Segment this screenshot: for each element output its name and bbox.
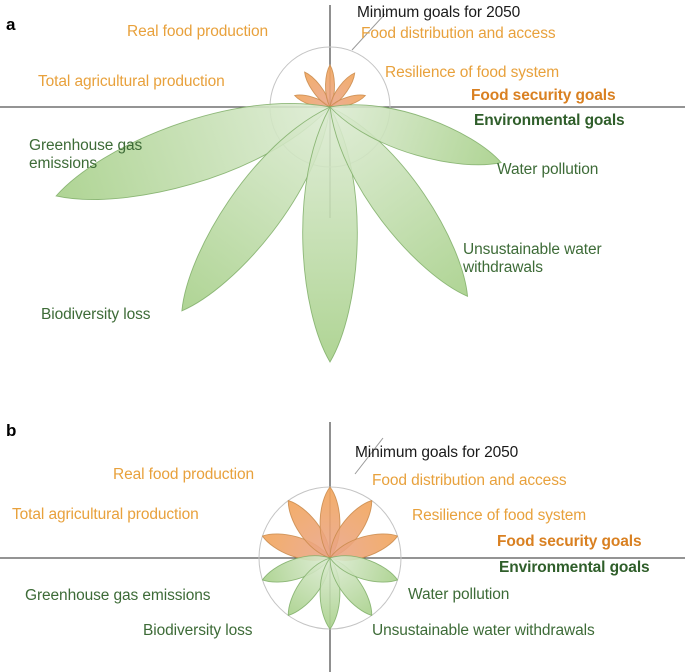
label-real-food-production-b: Real food production [113, 466, 254, 484]
label-biodiversity-loss-a: Biodiversity loss [41, 306, 150, 324]
label-unsustainable-water-withdrawals-b: Unsustainable water withdrawals [372, 622, 595, 640]
label-greenhouse-gas-emissions-b: Greenhouse gas emissions [25, 587, 210, 605]
legend-environmental-goals-b: Environmental goals [499, 559, 650, 577]
annotation-minimum-goals-b: Minimum goals for 2050 [355, 444, 518, 462]
label-unsustainable-water-withdrawals-a: Unsustainable water withdrawals [463, 241, 648, 277]
legend-food-security-goals-b: Food security goals [497, 533, 642, 551]
label-water-pollution-a: Water pollution [497, 161, 598, 179]
legend-food-security-goals-a: Food security goals [471, 87, 616, 105]
label-food-distribution-access-a: Food distribution and access [361, 25, 556, 43]
annotation-minimum-goals-a: Minimum goals for 2050 [357, 4, 520, 22]
label-resilience-food-system-a: Resilience of food system [385, 64, 559, 82]
legend-environmental-goals-a: Environmental goals [474, 112, 625, 130]
panel-b: b Total agricultural production: 1Real f… [0, 400, 685, 672]
label-greenhouse-gas-emissions-a: Greenhouse gas emissions [29, 137, 179, 173]
label-biodiversity-loss-b: Biodiversity loss [143, 622, 252, 640]
panel-a: a Total [0, 0, 685, 400]
label-total-agricultural-production-a: Total agricultural production [38, 73, 225, 91]
label-water-pollution-b: Water pollution [408, 586, 509, 604]
label-resilience-food-system-b: Resilience of food system [412, 507, 586, 525]
panel-a-rose-plot: Total agricultural production: 0.62Real … [0, 0, 685, 400]
figure-root: a Total [0, 0, 685, 672]
label-real-food-production-a: Real food production [127, 23, 268, 41]
label-food-distribution-access-b: Food distribution and access [372, 472, 567, 490]
label-total-agricultural-production-b: Total agricultural production [12, 506, 199, 524]
